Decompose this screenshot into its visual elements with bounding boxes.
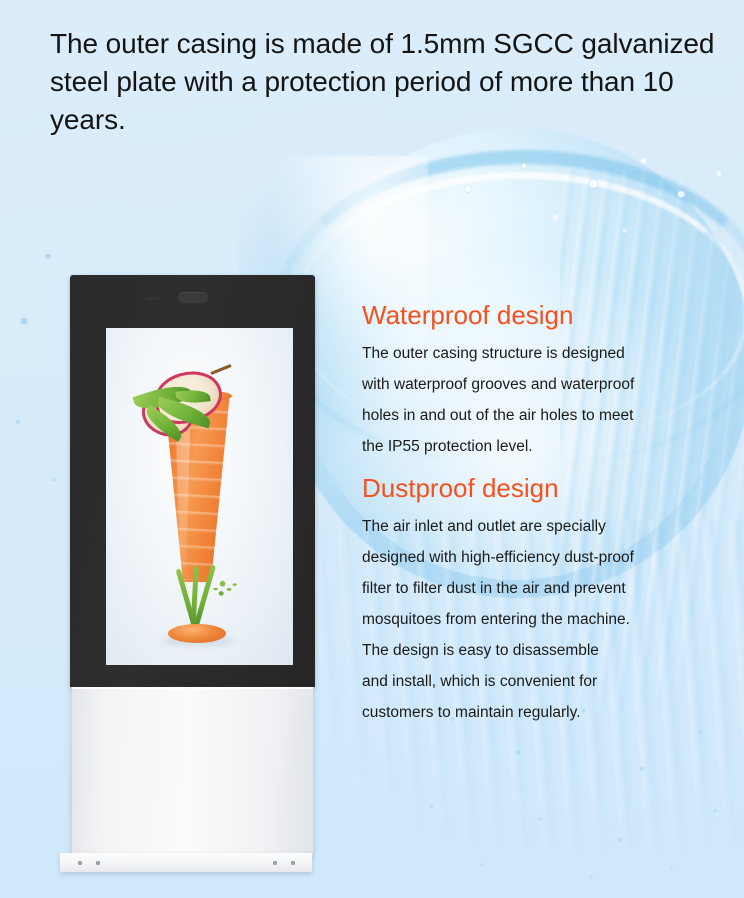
base-screw xyxy=(78,861,82,865)
kiosk-cabinet xyxy=(72,687,313,855)
feature-line: holes in and out of the air holes to mee… xyxy=(362,400,710,431)
water-droplets-top xyxy=(430,150,744,280)
page-headline: The outer casing is made of 1.5mm SGCC g… xyxy=(50,25,726,139)
feature-line: mosquitoes from entering the machine. xyxy=(362,604,710,635)
feature-line: filter to filter dust in the air and pre… xyxy=(362,573,710,604)
feature-waterproof: Waterproof design The outer casing struc… xyxy=(362,298,710,462)
feature-line: with waterproof grooves and waterproof xyxy=(362,369,710,400)
feature-line: The design is easy to disassemble xyxy=(362,635,710,666)
feature-line: designed with high-efficiency dust-proof xyxy=(362,542,710,573)
feature-line: The air inlet and outlet are specially xyxy=(362,511,710,542)
base-screw xyxy=(291,861,295,865)
carrot-base-pool xyxy=(168,624,226,643)
feature-title-waterproof: Waterproof design xyxy=(362,298,710,332)
feature-line: the IP55 protection level. xyxy=(362,431,710,462)
feature-line: and install, which is convenient for xyxy=(362,666,710,697)
feature-dustproof: Dustproof design The air inlet and outle… xyxy=(362,471,710,728)
screen-artwork xyxy=(106,328,293,665)
feature-line: The outer casing structure is designed xyxy=(362,338,710,369)
kiosk-camera-icon xyxy=(178,292,208,303)
kiosk-display-bezel xyxy=(70,275,315,687)
kiosk-cabinet-top-edge xyxy=(72,687,313,689)
product-kiosk xyxy=(60,272,312,876)
base-screw xyxy=(273,861,277,865)
feature-body-dustproof: The air inlet and outlet are specially d… xyxy=(362,511,710,728)
kiosk-screen xyxy=(106,328,293,665)
feature-line: customers to maintain regularly. xyxy=(362,697,710,728)
kiosk-sensor-icon xyxy=(146,297,160,300)
feature-title-dustproof: Dustproof design xyxy=(362,471,710,505)
base-screw xyxy=(96,861,100,865)
carrot-frond-icon xyxy=(210,578,238,600)
feature-body-waterproof: The outer casing structure is designed w… xyxy=(362,338,710,462)
feature-list: Waterproof design The outer casing struc… xyxy=(362,298,710,728)
product-feature-banner: The outer casing is made of 1.5mm SGCC g… xyxy=(0,0,744,898)
